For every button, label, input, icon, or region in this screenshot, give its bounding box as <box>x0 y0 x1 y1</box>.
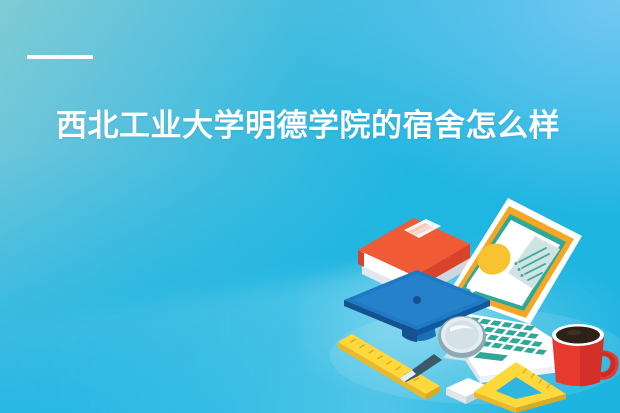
study-desk-illustration <box>330 196 620 413</box>
page-title: 西北工业大学明德学院的宿舍怎么样 <box>56 106 596 146</box>
article-cover-banner: 西北工业大学明德学院的宿舍怎么样 <box>0 0 620 413</box>
title-divider-rule <box>27 55 93 59</box>
